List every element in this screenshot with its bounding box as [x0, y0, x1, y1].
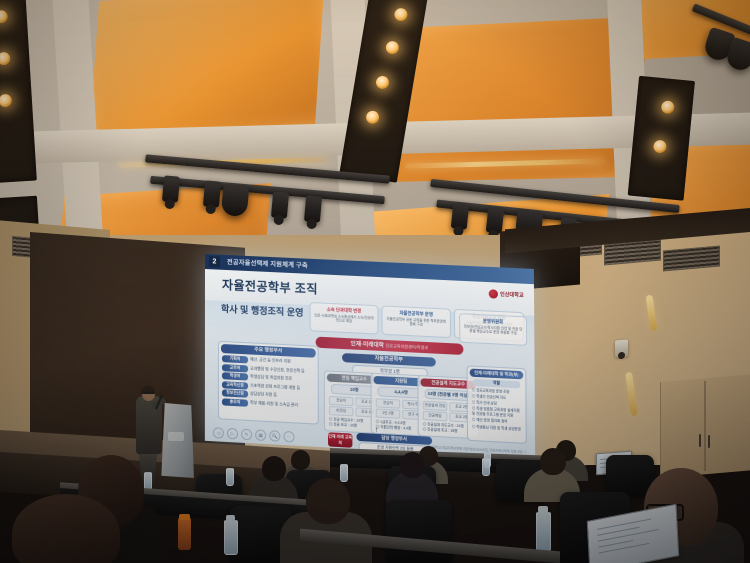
stage-light	[486, 206, 505, 234]
org-grid-cell: 전공책임	[423, 411, 448, 421]
stage-light	[304, 195, 322, 222]
org-grid-cell: 비전임	[329, 406, 353, 416]
bottle-cap	[179, 514, 190, 520]
university-logo: 인산대학교	[489, 289, 524, 300]
admin-row-tag: 학생처	[222, 372, 248, 380]
top-info-box-body: 자율전공학부 공동 교육을 위한 학부운영위원회 구성	[383, 317, 450, 329]
top-info-box: 소속 단과대학 변경 인문·사회과학대 소속중심에서 소속/전공대학으로 확장	[310, 302, 379, 335]
door-handle[interactable]	[708, 435, 710, 448]
water-bottle	[224, 520, 238, 555]
bottom-red-badge: 인재·미래 교육처	[328, 432, 352, 448]
presenter-toolbar[interactable]: ◁ ▷ ✎ ▦ 🔍 ⋯	[213, 427, 295, 443]
admin-row-text: 학부 채용·지원 및 소속급 관리	[250, 401, 298, 409]
admin-row-tag: 교무처	[222, 364, 248, 372]
door-handle[interactable]	[699, 434, 701, 447]
zoom-icon[interactable]: 🔍	[269, 430, 280, 442]
pen-icon[interactable]: ✎	[241, 429, 252, 441]
recessed-light-trough	[628, 76, 695, 201]
admin-row-text: 예산, 공간 등 인프라 지원	[250, 357, 291, 364]
water-bottle	[536, 512, 551, 552]
water-bottle	[226, 468, 234, 486]
admin-row-text: 학생상담 및 취업지원 진로	[250, 375, 292, 382]
water-bottle	[482, 458, 490, 476]
black-chair	[386, 500, 452, 563]
next-slide-icon[interactable]: ▷	[227, 428, 238, 440]
org-grid-cell: 전임직	[329, 395, 353, 405]
admin-row-text: 교과행정 및 수강신청, 전공선택 등	[250, 366, 305, 374]
bottle-cap	[226, 515, 235, 521]
top-info-box: 운영위원회 학부장/전임교수/학사지원 인력 및 전공 단위별 책임교수로 운영…	[459, 313, 527, 346]
admin-row-tag: 교육혁신원	[222, 381, 248, 389]
water-bottle	[340, 464, 348, 482]
logo-mark-icon	[489, 289, 498, 299]
top-info-box-body: 인문·사회과학대 소속중심에서 소속/전공대학으로 확장	[311, 313, 378, 325]
admin-row-tag: 정보전산원	[222, 390, 248, 398]
slide-section-number: 2	[209, 256, 220, 268]
admin-row-text: 기초역량 강화 프로그램 개발 등	[250, 383, 300, 391]
admin-row-tag: 기획처	[222, 355, 248, 363]
admin-row-text: 상담상담 지원 등	[250, 392, 277, 398]
slide-title: 자율전공학부 조직	[222, 276, 318, 298]
stage-light	[162, 175, 180, 202]
stage-light	[271, 191, 289, 218]
top-info-box: 자율전공학부 운영 자율전공학부 공동 교육을 위한 학부운영위원회 구성	[381, 305, 451, 338]
auditorium-presentation-photo: 2 전공자율선택제 지원체계 구축 자율전공학부 조직 인산대학교 학사 및 행…	[0, 0, 750, 563]
admin-row-tag: 총무처	[222, 398, 248, 406]
role-box: 인재·미래대학 및 학과(부) 역할 ◎ 전공교육과정 운영·조정 ◎ 학생의 …	[467, 365, 527, 444]
role-bullet: ◎ 학생중심 지원 및 학생 상담운영	[472, 424, 522, 431]
more-options-icon[interactable]: ⋯	[283, 431, 294, 443]
org-column-count: 24명 (전공별 3명 이상)	[425, 389, 472, 402]
org-root-label: 인재·미래대학	[351, 341, 384, 349]
org-grid-cell: 1인 2명	[376, 408, 401, 418]
recessed-light-trough	[0, 0, 37, 183]
stage-light	[203, 180, 221, 207]
glasses-icon	[143, 392, 154, 394]
stage-light	[451, 202, 470, 230]
org-grid-cell: 전임직	[376, 398, 401, 408]
org-root-sublabel: 진로교육지원센터/학생과	[386, 343, 428, 350]
projection-screen: 2 전공자율선택제 지원체계 구축 자율전공학부 조직 인산대학교 학사 및 행…	[205, 254, 535, 459]
amber-drink-bottle	[178, 518, 191, 550]
previous-slide-icon[interactable]: ◁	[213, 427, 224, 439]
bottle-cap	[538, 506, 548, 513]
wall-speaker	[615, 339, 628, 357]
top-info-box-body: 학부장/전임교수/학사지원 인력 및 전공 단위별 책임교수로 운영 위원회 구…	[460, 324, 526, 336]
admin-departments-box: 주요 행정부서 기획처 예산, 공간 등 인프라 지원 교무처 교과행정 및 수…	[218, 341, 319, 425]
logo-text: 인산대학교	[500, 291, 524, 299]
org-grid-cell: 전공설계 전임	[423, 400, 448, 410]
slide-grid-icon[interactable]: ▦	[255, 429, 266, 441]
slide-lead-label: 학사 및 행정조직 운영	[221, 302, 304, 319]
org-root-bar: 인재·미래대학 진로교육지원센터/학생과	[316, 337, 464, 355]
presentation-slide: 2 전공자율선택제 지원체계 구축 자율전공학부 조직 인산대학교 학사 및 행…	[205, 254, 535, 459]
door-split-line	[704, 381, 706, 471]
role-box-header: 인재·미래대학 및 학과(부)	[470, 369, 524, 380]
podium-logo	[168, 432, 184, 441]
